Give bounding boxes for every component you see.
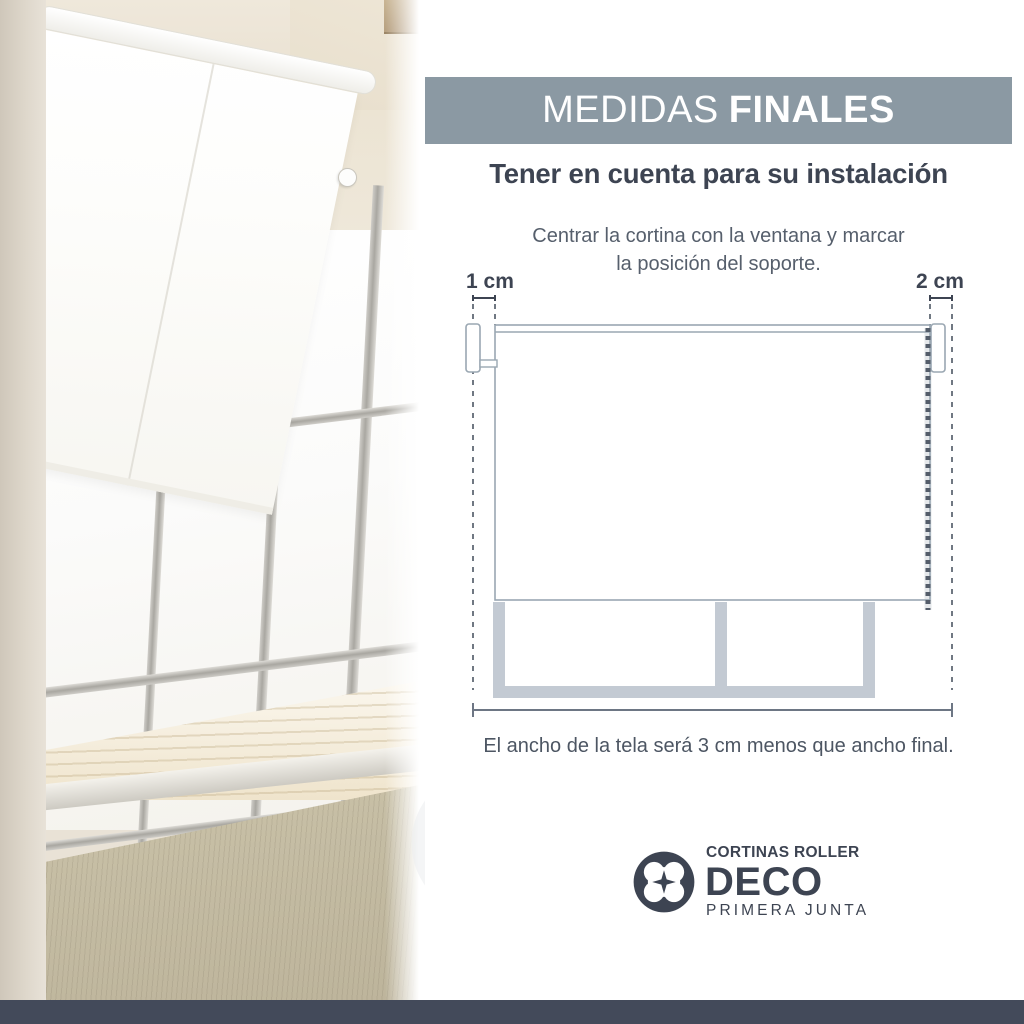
photo-blind-fabric [0, 30, 358, 515]
extension-lines-top-left [473, 304, 495, 325]
header-title-light: MEDIDAS [542, 89, 719, 132]
fabric-width-note: El ancho de la tela será 3 cm menos que … [425, 735, 1012, 758]
photo-fabric-seam [127, 64, 215, 486]
roller-blind-photo [0, 0, 425, 1000]
logo-main-line: DECO [705, 862, 869, 902]
photo-roller-endcap [338, 168, 357, 187]
right-support-bracket [931, 324, 945, 372]
overall-width-dimension [473, 703, 952, 717]
deco-flower-icon [633, 851, 695, 913]
blind-fabric-panel [495, 325, 930, 600]
logo-bottom-line: PRIMERA JUNTA [706, 903, 869, 919]
logo-top-line: CORTINAS ROLLER [706, 845, 869, 861]
extension-lines-top-right [930, 304, 952, 325]
section-subtitle: Tener en cuenta para su instalación [425, 158, 1012, 190]
installation-diagram [425, 290, 1012, 730]
left-support-bracket [466, 324, 497, 372]
dimension-bracket-left [473, 295, 495, 301]
dimension-bracket-right [930, 295, 952, 301]
photo-roller-assembly [0, 30, 425, 500]
photo-right-fade [385, 0, 425, 1000]
instruction-line-1: Centrar la cortina con la ventana y marc… [425, 222, 1012, 250]
header-bar: MEDIDAS FINALES [425, 77, 1012, 144]
brand-logo: CORTINAS ROLLER DECO PRIMERA JUNTA [633, 845, 869, 918]
footer-bar [0, 1000, 1024, 1024]
info-panel: MEDIDAS FINALES Tener en cuenta para su … [425, 0, 1024, 1000]
photo-wall-left [0, 0, 46, 1000]
window-frame-below [493, 602, 875, 698]
infographic-page: MEDIDAS FINALES Tener en cuenta para su … [0, 0, 1024, 1024]
header-title-bold: FINALES [729, 89, 895, 132]
logo-wordmark: CORTINAS ROLLER DECO PRIMERA JUNTA [706, 845, 869, 918]
